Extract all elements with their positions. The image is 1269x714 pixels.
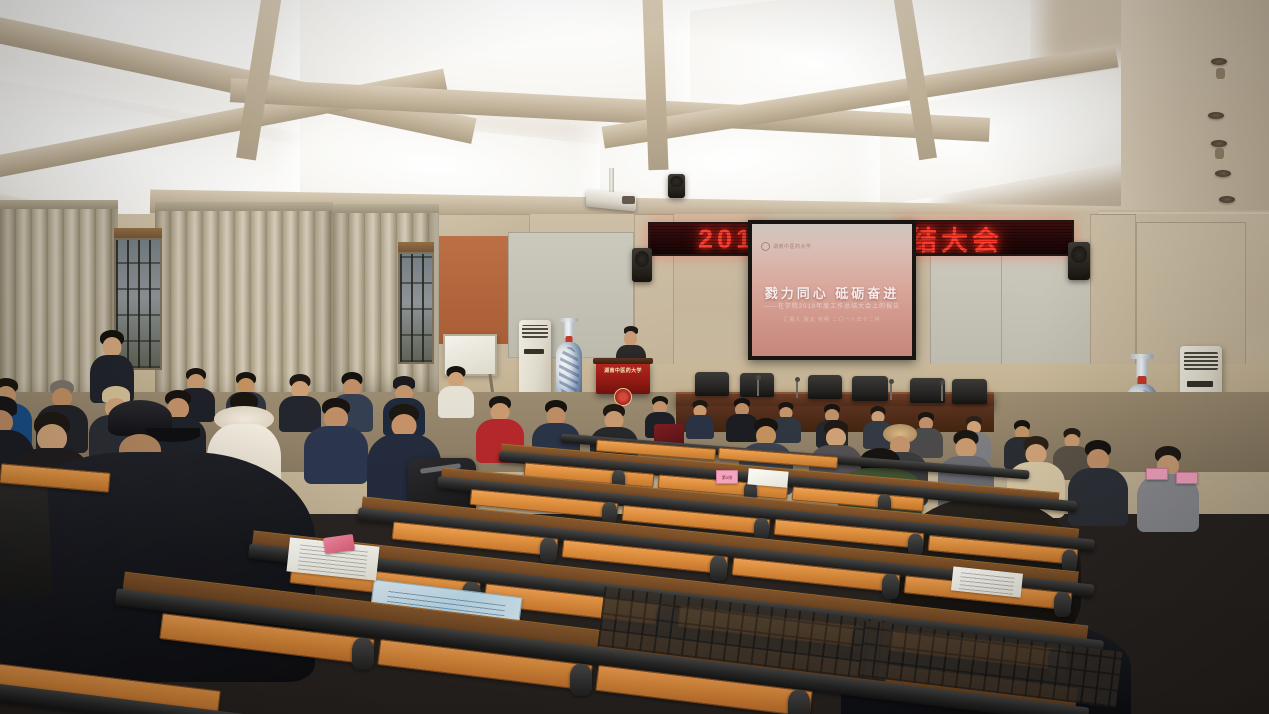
torso [304, 426, 368, 484]
seat-hinge-knob [540, 538, 557, 563]
torso [686, 415, 714, 439]
seat-hinge-knob [1062, 550, 1077, 572]
crest-icon [761, 242, 770, 251]
curtain-rail [155, 202, 333, 211]
seat-hinge-knob [788, 690, 810, 714]
gooseneck-microphone [890, 382, 892, 400]
slide-title: 戮力同心 砥砺奋进 [752, 283, 912, 302]
handout-paper [747, 468, 788, 487]
wall-speaker-upper-right [668, 174, 685, 198]
dais-chair [952, 379, 987, 404]
window-header-right [398, 242, 434, 252]
screen-logo-text: 湖南中医药大学 [773, 243, 812, 250]
slide-subtitle: ——在学院2018年度工作总结大会上的报告 [752, 301, 912, 310]
projector-mount-pole [609, 168, 614, 194]
dais-chair [695, 372, 729, 396]
projector-lens-icon [622, 196, 635, 204]
folding-seat-back [0, 477, 53, 600]
dais-chair [808, 375, 842, 399]
torso [279, 396, 321, 432]
presenter-head [624, 331, 637, 346]
ac-vent-grille [522, 325, 548, 338]
seat-hinge-knob [570, 664, 592, 696]
coffered-luminous-ceiling [0, 0, 1269, 232]
wall-accent-panel [430, 236, 508, 344]
gooseneck-microphone [796, 380, 798, 398]
auditorium-photo: 2018 结大会 湖南中医药大学 戮力同心 砥砺奋进 ——在学院2018年度工作… [0, 0, 1269, 714]
window-header-left [114, 228, 162, 238]
led-banner-right: 结大会 [896, 220, 1074, 256]
projection-screen[interactable]: 湖南中医药大学 戮力同心 砥砺奋进 ——在学院2018年度工作总结大会上的报告 … [752, 224, 912, 356]
ac-display [1187, 381, 1213, 387]
downlight-icon [1215, 170, 1231, 177]
window-right [398, 252, 434, 364]
seat-hinge-knob [710, 556, 727, 581]
sprinkler-icon [1215, 148, 1224, 159]
seat-hinge-knob [754, 518, 769, 540]
sprinkler-icon [1216, 68, 1225, 79]
head [1026, 444, 1047, 464]
torso [1068, 468, 1128, 526]
slide-byline: 汇报人:院长 张明 二〇一八年十二月 [752, 316, 912, 325]
dais-chair [852, 376, 888, 401]
seat-hinge-knob [602, 502, 617, 524]
downlight-icon [1211, 140, 1227, 147]
head [1087, 449, 1109, 470]
curtain-rail [333, 204, 439, 213]
ac-display [524, 349, 544, 354]
lectern-top [593, 358, 653, 364]
seat-hinge-knob [352, 638, 374, 670]
ac-vent-grille [1184, 352, 1218, 369]
seat-label-note [1176, 472, 1198, 484]
downlight-icon [1211, 58, 1227, 65]
row-label-note: 第3排 [716, 470, 738, 484]
gooseneck-microphone [757, 378, 759, 396]
wall-speaker-right [1068, 242, 1090, 280]
seat-hinge-knob [908, 534, 923, 556]
downlight-icon [1208, 112, 1224, 119]
head [103, 337, 122, 357]
gooseneck-microphone [941, 383, 943, 401]
head [956, 438, 977, 458]
seat-hinge-knob [882, 574, 899, 599]
seat-hinge-knob [1054, 592, 1071, 617]
torso [438, 386, 474, 418]
downlight-icon [1219, 196, 1235, 203]
lectern-text: 湖南中医药大学 [596, 367, 650, 374]
acoustic-panel [930, 244, 1002, 374]
wall-speaker-left [632, 248, 652, 282]
screen-university-logo: 湖南中医药大学 [761, 242, 812, 251]
seat-label-note [1146, 468, 1168, 480]
curtain-rail [0, 200, 118, 209]
projection-screen-frame: 湖南中医药大学 戮力同心 砥砺奋进 ——在学院2018年度工作总结大会上的报告 … [748, 220, 916, 360]
ceiling-soffit-right [1121, 0, 1269, 232]
paper-lines [960, 570, 1015, 595]
